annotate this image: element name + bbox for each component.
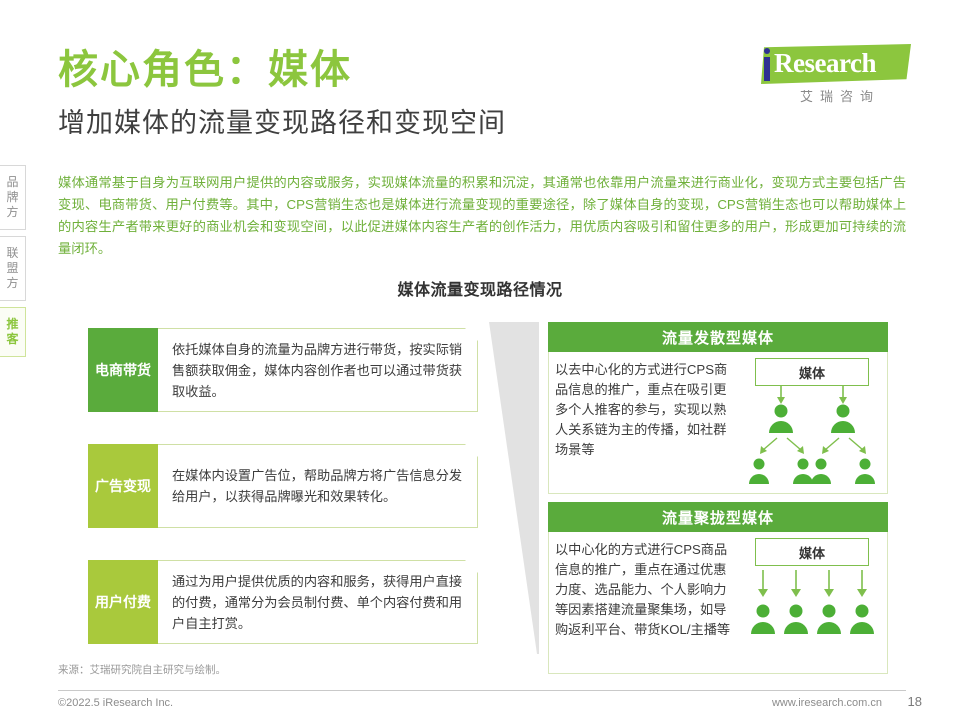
person-icon [793,459,813,485]
panel-header: 流量聚拢型媒体 [548,502,888,532]
iresearch-logo: Research 艾瑞咨询 [743,44,918,106]
logo-i-stem-icon [764,57,770,81]
page-number: 18 [908,694,922,709]
panel-body: 以去中心化的方式进行CPS商品信息的推广，重点在吸引更多个人推客的参与，实现以熟… [548,352,888,494]
person-icon [811,459,831,485]
footer-divider [58,690,906,691]
chart-title: 媒体流量变现路径情况 [0,276,960,300]
person-icon [831,405,855,434]
panel-body: 以中心化的方式进行CPS商品信息的推广，重点在通过优惠力度、选品能力、个人影响力… [548,532,888,674]
card-description: 依托媒体自身的流量为品牌方进行带货，按实际销售额获取佣金，媒体内容创作者也可以通… [158,328,478,412]
monetization-card: 广告变现 在媒体内设置广告位，帮助品牌方将广告信息分发给用户，以获得品牌曝光和效… [88,444,478,528]
fan-diagram-svg [741,566,883,666]
media-node-box: 媒体 [755,538,869,566]
tree-diagram-svg [741,386,883,492]
tree-diagram: 媒体 [737,352,887,493]
slide-root: 核心角色：媒体 增加媒体的流量变现路径和变现空间 Research 艾瑞咨询 品… [0,0,960,720]
person-icon [817,605,841,635]
card-label: 广告变现 [88,444,158,528]
source-note: 来源：艾瑞研究院自主研究与绘制。 [58,662,226,677]
gray-arrow-wedge [489,322,539,654]
page-subtitle: 增加媒体的流量变现路径和变现空间 [58,108,506,139]
panel-description: 以中心化的方式进行CPS商品信息的推广，重点在通过优惠力度、选品能力、个人影响力… [549,532,737,673]
card-description: 通过为用户提供优质的内容和服务，获得用户直接的付费，通常分为会员制付费、单个内容… [158,560,478,644]
card-label: 电商带货 [88,328,158,412]
intro-paragraph: 媒体通常基于自身为互联网用户提供的内容或服务，实现媒体流量的积累和沉淀，其通常也… [58,172,906,260]
monetization-card: 电商带货 依托媒体自身的流量为品牌方进行带货，按实际销售额获取佣金，媒体内容创作… [88,328,478,412]
page-title: 核心角色：媒体 [58,48,352,92]
fan-diagram: 媒体 [737,532,887,673]
logo-wordmark: Research [774,48,876,79]
card-description: 在媒体内设置广告位，帮助品牌方将广告信息分发给用户，以获得品牌曝光和效果转化。 [158,444,478,528]
media-node-box: 媒体 [755,358,869,386]
person-icon [769,405,793,434]
person-icon [784,605,808,635]
media-type-panel: 流量发散型媒体 以去中心化的方式进行CPS商品信息的推广，重点在吸引更多个人推客… [548,322,888,494]
person-icon [749,459,769,485]
card-label: 用户付费 [88,560,158,644]
sidebar-item-promoter[interactable]: 推客 [0,307,26,357]
website-url: www.iresearch.com.cn [772,697,882,709]
logo-chinese-name: 艾瑞咨询 [765,86,915,105]
person-icon [855,459,875,485]
person-icon [751,605,775,635]
side-tab-list: 品牌方 联盟方 推客 [0,165,28,363]
logo-i-dot-icon [764,48,770,54]
media-type-panel: 流量聚拢型媒体 以中心化的方式进行CPS商品信息的推广，重点在通过优惠力度、选品… [548,502,888,674]
sidebar-item-brand[interactable]: 品牌方 [0,165,26,230]
panel-header: 流量发散型媒体 [548,322,888,352]
person-icon [850,605,874,635]
monetization-card: 用户付费 通过为用户提供优质的内容和服务，获得用户直接的付费，通常分为会员制付费… [88,560,478,644]
panel-description: 以去中心化的方式进行CPS商品信息的推广，重点在吸引更多个人推客的参与，实现以熟… [549,352,737,493]
copyright-text: ©2022.5 iResearch Inc. [58,697,173,709]
